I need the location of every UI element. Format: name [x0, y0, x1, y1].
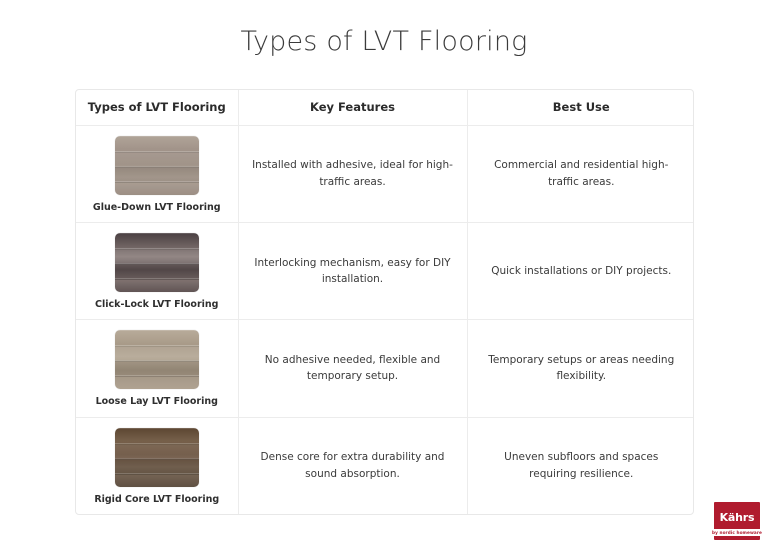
column-header-best-use: Best Use [467, 90, 694, 125]
type-label: Click-Lock LVT Flooring [88, 299, 226, 311]
type-cell: Rigid Core LVT Flooring [76, 417, 238, 514]
column-header-type: Types of LVT Flooring [76, 90, 238, 125]
best-use-cell: Quick installations or DIY projects. [467, 222, 694, 319]
glue-down-lvt-sample [115, 136, 199, 195]
column-header-key-features: Key Features [238, 90, 467, 125]
type-label: Glue-Down LVT Flooring [88, 202, 226, 214]
key-features-cell: No adhesive needed, flexible and tempora… [238, 320, 467, 417]
loose-lay-lvt-sample [115, 330, 199, 389]
type-cell: Click-Lock LVT Flooring [76, 222, 238, 319]
page-title: Types of LVT Flooring [0, 26, 768, 57]
type-cell: Glue-Down LVT Flooring [76, 125, 238, 222]
lvt-types-table: Types of LVT Flooring Key Features Best … [75, 89, 694, 515]
type-label: Loose Lay LVT Flooring [88, 396, 226, 408]
key-features-cell: Interlocking mechanism, easy for DIY ins… [238, 222, 467, 319]
type-cell: Loose Lay LVT Flooring [76, 320, 238, 417]
logo-wordmark: Kährs [714, 511, 760, 524]
best-use-cell: Uneven subfloors and spaces requiring re… [467, 417, 694, 514]
logo-tagline: by nordic homeware [712, 529, 762, 536]
table-row: Glue-Down LVT Flooring Installed with ad… [76, 125, 694, 222]
brand-logo: Kährs by nordic homeware [714, 502, 760, 540]
table-row: Rigid Core LVT Flooring Dense core for e… [76, 417, 694, 514]
best-use-cell: Temporary setups or areas needing flexib… [467, 320, 694, 417]
table-row: Click-Lock LVT Flooring Interlocking mec… [76, 222, 694, 319]
rigid-core-lvt-sample [115, 428, 199, 487]
best-use-cell: Commercial and residential high-traffic … [467, 125, 694, 222]
type-label: Rigid Core LVT Flooring [88, 494, 226, 506]
key-features-cell: Dense core for extra durability and soun… [238, 417, 467, 514]
table-header-row: Types of LVT Flooring Key Features Best … [76, 90, 694, 125]
key-features-cell: Installed with adhesive, ideal for high-… [238, 125, 467, 222]
click-lock-lvt-sample [115, 233, 199, 292]
table-row: Loose Lay LVT Flooring No adhesive neede… [76, 320, 694, 417]
